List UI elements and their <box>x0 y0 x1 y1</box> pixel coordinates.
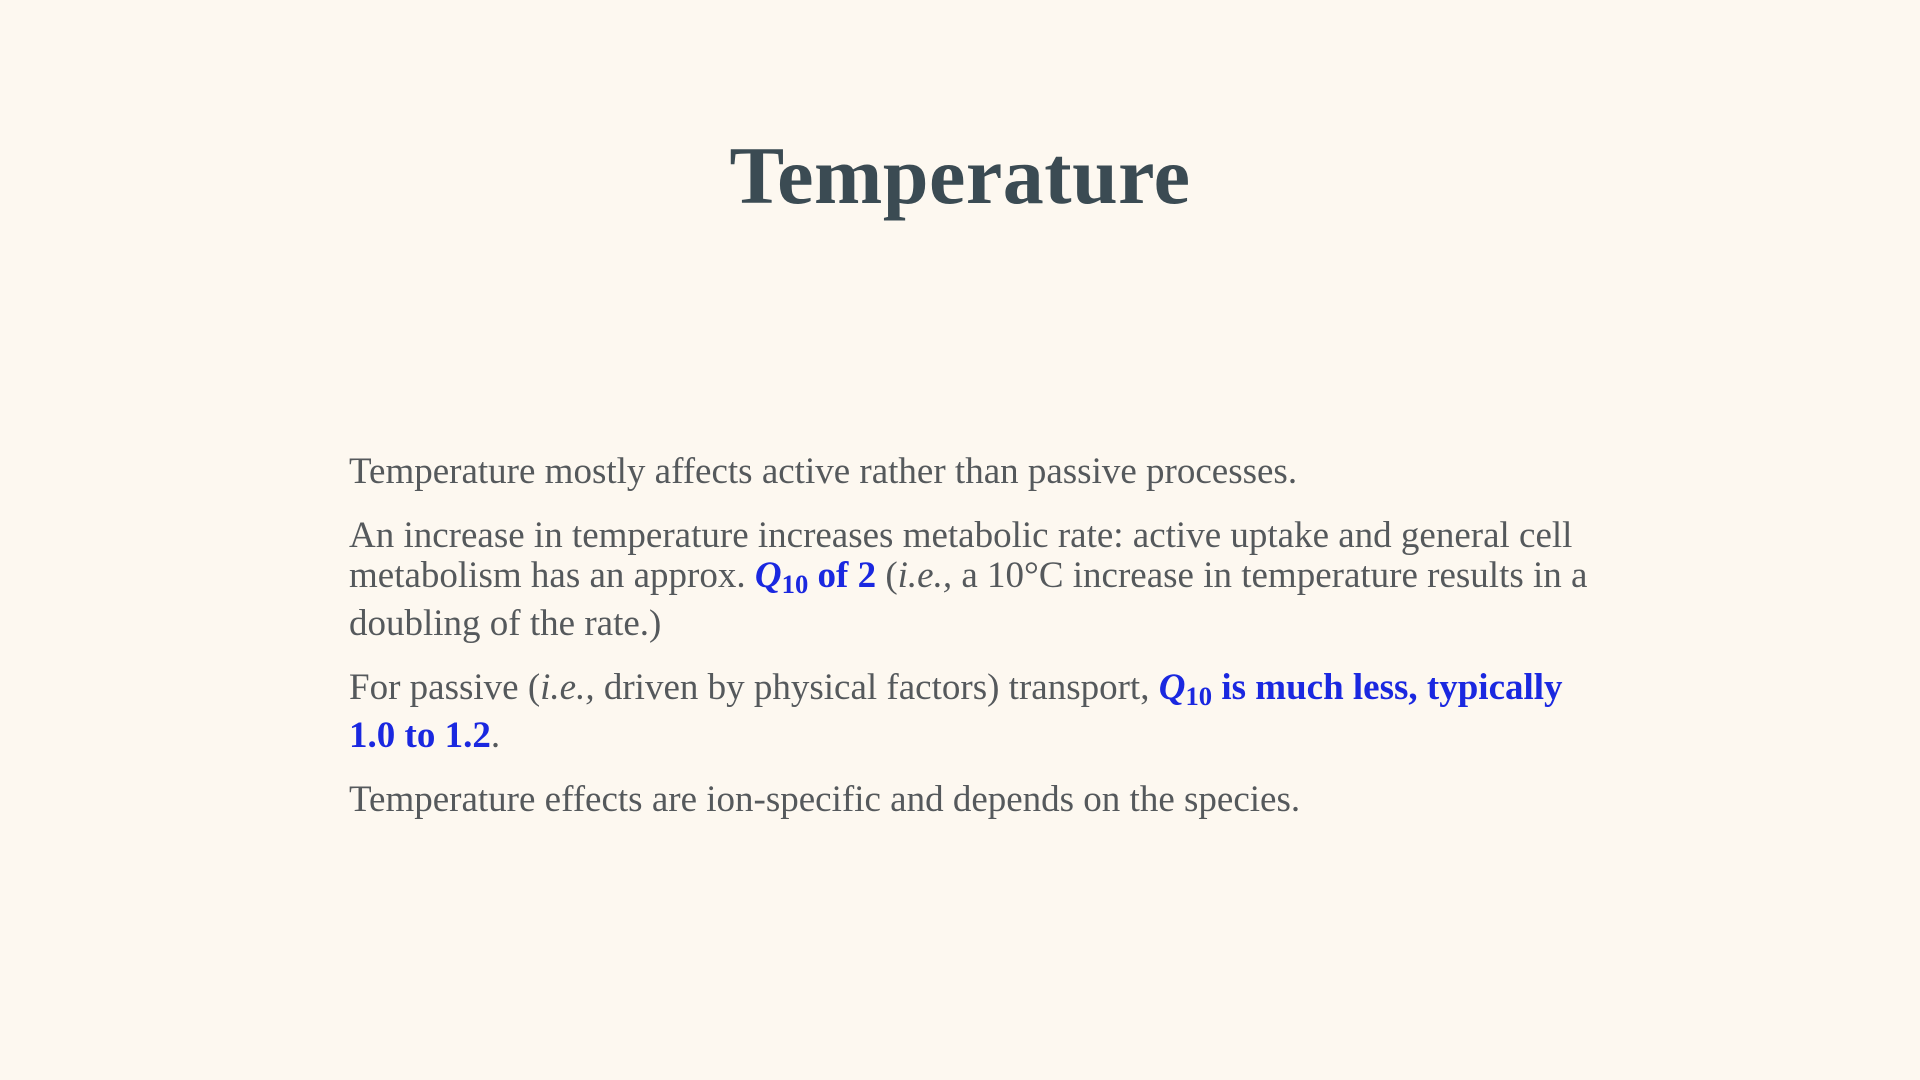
q10-symbol-2: Q <box>1159 667 1186 708</box>
bullet-2-q10-emphasis: Q10 of 2 <box>755 555 876 596</box>
bullet-3-ie-italic: i.e., <box>540 667 594 708</box>
q10-subscript-2: 10 <box>1185 681 1212 711</box>
bullet-paragraph-1: Temperature mostly affects active rather… <box>349 452 1599 492</box>
bullet-2-open-paren: ( <box>876 555 898 596</box>
slide-canvas: Temperature Temperature mostly affects a… <box>0 0 1920 1080</box>
slide-body: Temperature mostly affects active rather… <box>349 452 1599 820</box>
page-title: Temperature <box>0 133 1920 219</box>
bullet-2-ie-italic: i.e., <box>898 555 952 596</box>
q10-symbol: Q <box>755 555 782 596</box>
bullet-4-text: Temperature effects are ion-specific and… <box>349 779 1300 820</box>
bullet-3-period: . <box>491 715 500 756</box>
q10-subscript: 10 <box>782 569 809 599</box>
bullet-paragraph-4: Temperature effects are ion-specific and… <box>349 780 1599 820</box>
q10-value-text: of 2 <box>808 555 876 596</box>
bullet-3-mid-text: driven by physical factors) transport, <box>595 667 1159 708</box>
bullet-3-lead-text: For passive ( <box>349 667 540 708</box>
bullet-1-text: Temperature mostly affects active rather… <box>349 451 1297 492</box>
bullet-paragraph-3: For passive (i.e., driven by physical fa… <box>349 668 1599 756</box>
bullet-paragraph-2: An increase in temperature increases met… <box>349 516 1599 644</box>
